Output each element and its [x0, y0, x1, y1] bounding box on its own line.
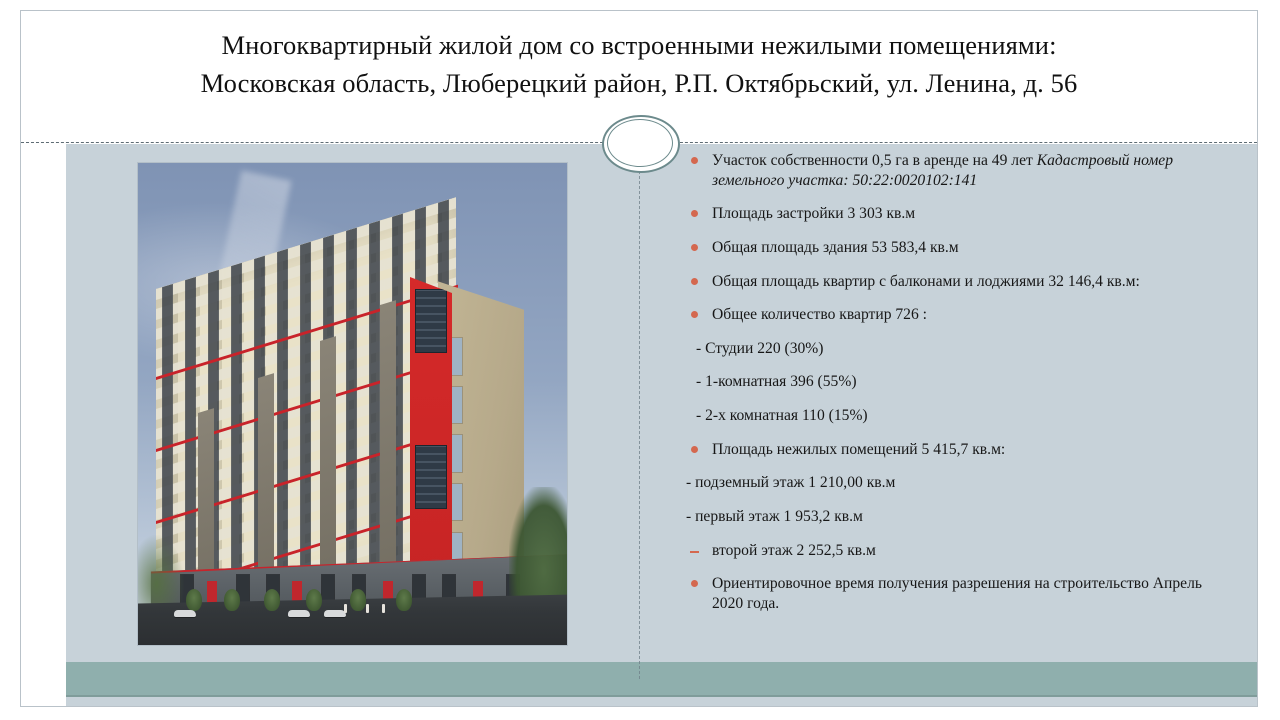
- list-item-studios: - Студии 220 (30%): [676, 339, 1216, 359]
- list-item-apartments-count: Общее количество квартир 726 :: [676, 305, 1216, 325]
- street-tree: [306, 589, 322, 611]
- street-tree: [186, 589, 202, 611]
- red-column-glazing: [415, 445, 447, 509]
- column-divider-dashed: [639, 171, 640, 679]
- list-item-land-plot: Участок собственности 0,5 га в аренде на…: [676, 151, 1216, 190]
- list-item-non-residential-area: Площадь нежилых помещений 5 415,7 кв.м:: [676, 440, 1216, 460]
- ring-inner-icon: [607, 119, 673, 167]
- list-item-permit-date: Ориентировочное время получения разрешен…: [676, 574, 1216, 613]
- list-item-building-footprint: Площадь застройки 3 303 кв.м: [676, 204, 1216, 224]
- parked-car: [288, 610, 310, 617]
- street-tree: [350, 589, 366, 611]
- street-tree: [264, 589, 280, 611]
- bottom-accent-bar: [66, 662, 1257, 697]
- page-title-line-1: Многоквартирный жилой дом со встроенными…: [69, 27, 1209, 65]
- list-item-second-floor: второй этаж 2 252,5 кв.м: [676, 541, 1216, 561]
- end-wall-window: [452, 387, 462, 423]
- list-item-apartments-area: Общая площадь квартир с балконами и лодж…: [676, 272, 1216, 292]
- landscaping-foliage: [509, 487, 567, 607]
- specifications-list: Участок собственности 0,5 га в аренде на…: [676, 151, 1216, 614]
- presentation-slide: Многоквартирный жилой дом со встроенными…: [20, 10, 1258, 707]
- end-wall-window: [452, 484, 462, 520]
- page-title: Многоквартирный жилой дом со встроенными…: [69, 27, 1209, 102]
- list-item-total-building-area: Общая площадь здания 53 583,4 кв.м: [676, 238, 1216, 258]
- land-plot-italic-lead: Кадастровый: [1037, 152, 1130, 169]
- pedestrian: [366, 604, 369, 613]
- list-item-two-room: - 2-х комнатная 110 (15%): [676, 406, 1216, 426]
- pedestrian: [382, 604, 385, 613]
- red-column-glazing: [415, 289, 447, 353]
- end-wall-window: [452, 338, 462, 374]
- ring-ornament-icon: [602, 115, 680, 173]
- street-tree: [396, 589, 412, 611]
- street-tree: [224, 589, 240, 611]
- building-render-image: [138, 163, 567, 645]
- list-item-underground-floor: - подземный этаж 1 210,00 кв.м: [676, 473, 1216, 493]
- pedestrian: [344, 604, 347, 613]
- parked-car: [174, 610, 196, 617]
- list-item-first-floor: - первый этаж 1 953,2 кв.м: [676, 507, 1216, 527]
- end-wall-window: [452, 435, 462, 471]
- land-plot-normal-text: Участок собственности 0,5 га в аренде на…: [712, 152, 1037, 169]
- landscaping-foliage: [138, 535, 184, 605]
- list-item-one-room: - 1-комнатная 396 (55%): [676, 372, 1216, 392]
- page-title-line-2: Московская область, Люберецкий район, Р.…: [69, 65, 1209, 103]
- parked-car: [324, 610, 346, 617]
